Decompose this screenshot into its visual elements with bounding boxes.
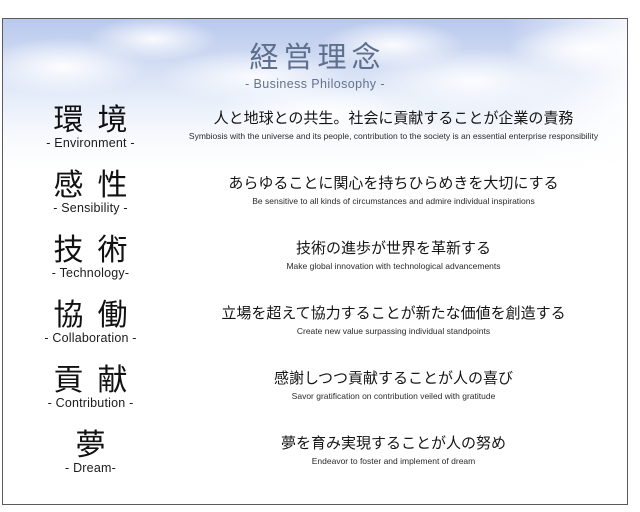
value-statement-en: Symbiosis with the universe and its peop… [178, 131, 609, 142]
value-kanji: 夢 [3, 430, 178, 462]
value-statement-en: Create new value surpassing individual s… [178, 326, 609, 337]
kanji-cell: 感性 - Sensibility - [3, 168, 178, 215]
value-kanji: 感性 [3, 170, 178, 202]
text-cell: 技術の進歩が世界を革新する Make global innovation wit… [178, 233, 627, 272]
value-romaji: - Environment - [3, 136, 178, 150]
value-romaji: - Collaboration - [3, 331, 178, 345]
value-kanji: 協働 [3, 300, 178, 332]
kanji-cell: 貢献 - Contribution - [3, 363, 178, 410]
value-statement-jp: 感謝しつつ貢献することが人の喜び [178, 369, 609, 388]
value-statement-jp: 技術の進歩が世界を革新する [178, 239, 609, 258]
value-statement-jp: 人と地球との共生。社会に貢献することが企業の責務 [178, 109, 609, 128]
value-row-technology: 技術 - Technology- 技術の進歩が世界を革新する Make glob… [3, 233, 627, 298]
text-cell: 夢を育み実現することが人の努め Endeavor to foster and i… [178, 428, 627, 467]
value-row-dream: 夢 - Dream- 夢を育み実現することが人の努め Endeavor to f… [3, 428, 627, 493]
value-row-environment: 環境 - Environment - 人と地球との共生。社会に貢献することが企業… [3, 103, 627, 168]
value-row-sensibility: 感性 - Sensibility - あらゆることに関心を持ちひらめきを大切にす… [3, 168, 627, 233]
value-statement-jp: 夢を育み実現することが人の努め [178, 434, 609, 453]
value-list: 環境 - Environment - 人と地球との共生。社会に貢献することが企業… [3, 103, 627, 493]
text-cell: 立場を超えて協力することが新たな価値を創造する Create new value… [178, 298, 627, 337]
kanji-cell: 協働 - Collaboration - [3, 298, 178, 345]
value-kanji: 技術 [3, 235, 178, 267]
text-cell: 人と地球との共生。社会に貢献することが企業の責務 Symbiosis with … [178, 103, 627, 142]
value-romaji: - Contribution - [3, 396, 178, 410]
text-cell: あらゆることに関心を持ちひらめきを大切にする Be sensitive to a… [178, 168, 627, 207]
page-title: 経営理念 [3, 42, 627, 74]
page-subtitle: - Business Philosophy - [3, 77, 627, 91]
value-row-contribution: 貢献 - Contribution - 感謝しつつ貢献することが人の喜び Sav… [3, 363, 627, 428]
value-statement-en: Be sensitive to all kinds of circumstanc… [178, 196, 609, 207]
text-cell: 感謝しつつ貢献することが人の喜び Savor gratification on … [178, 363, 627, 402]
poster-content: 経営理念 - Business Philosophy - 環境 - Enviro… [3, 19, 627, 493]
value-statement-jp: 立場を超えて協力することが新たな価値を創造する [178, 304, 609, 323]
value-romaji: - Technology- [3, 266, 178, 280]
kanji-cell: 夢 - Dream- [3, 428, 178, 475]
value-statement-en: Make global innovation with technologica… [178, 261, 609, 272]
value-row-collaboration: 協働 - Collaboration - 立場を超えて協力することが新たな価値を… [3, 298, 627, 363]
value-statement-en: Endeavor to foster and implement of drea… [178, 456, 609, 467]
value-kanji: 貢献 [3, 365, 178, 397]
value-romaji: - Sensibility - [3, 201, 178, 215]
value-kanji: 環境 [3, 105, 178, 137]
value-romaji: - Dream- [3, 461, 178, 475]
value-statement-jp: あらゆることに関心を持ちひらめきを大切にする [178, 174, 609, 193]
value-statement-en: Savor gratification on contribution veil… [178, 391, 609, 402]
kanji-cell: 環境 - Environment - [3, 103, 178, 150]
philosophy-poster: 経営理念 - Business Philosophy - 環境 - Enviro… [2, 18, 628, 505]
title-block: 経営理念 - Business Philosophy - [3, 19, 627, 91]
kanji-cell: 技術 - Technology- [3, 233, 178, 280]
